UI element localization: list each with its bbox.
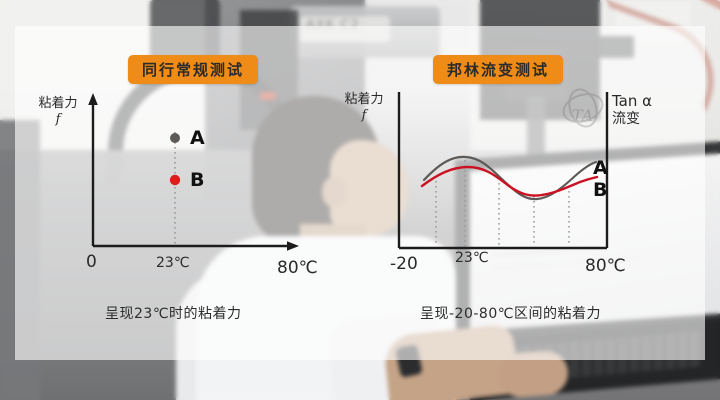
right-secondary-axis-main: Tan α — [612, 92, 692, 111]
right-curve-a-label: A — [593, 157, 608, 179]
right-y-axis-label: 粘着力 f — [332, 92, 396, 125]
right-x-tick-80c: 80℃ — [585, 256, 626, 276]
right-secondary-axis-label: Tan α 流变 — [612, 92, 692, 128]
right-curve-b-label: B — [593, 179, 607, 201]
right-x-tick-23c: 23℃ — [455, 250, 489, 266]
screenshot-root: AXK C2 同行常规测试 邦林流变测试 — [0, 0, 720, 400]
right-y-axis-symbol: f — [332, 108, 396, 124]
right-gridlines — [436, 160, 569, 246]
right-x-tick-minus20: -20 — [390, 254, 418, 274]
right-y-axis-label-text: 粘着力 — [332, 92, 396, 108]
right-curve-a — [424, 157, 596, 199]
right-caption: 呈现-20-80℃区间的粘着力 — [420, 303, 601, 323]
ta-logo-text: TA — [572, 106, 593, 125]
ta-logo-watermark: TA — [560, 88, 608, 134]
right-secondary-axis-sub: 流变 — [612, 111, 692, 129]
right-chart-svg — [0, 0, 720, 400]
